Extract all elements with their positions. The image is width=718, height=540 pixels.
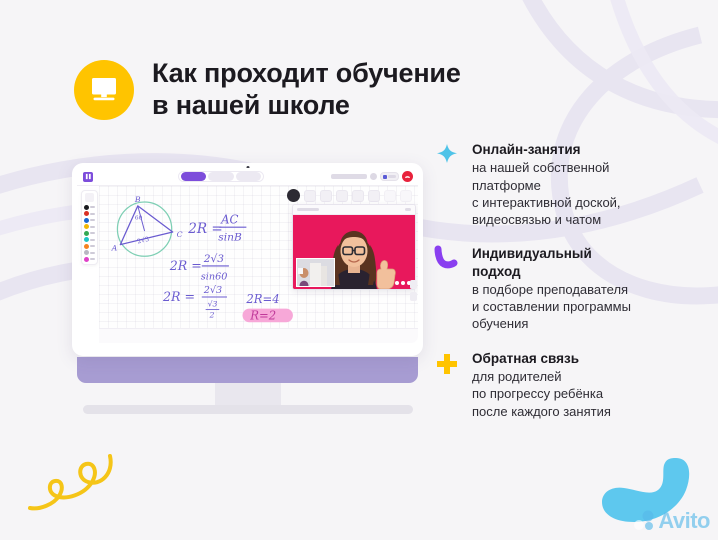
feature-description: в подборе преподавателя и составлении пр… [472, 281, 702, 333]
palette-row[interactable] [84, 224, 96, 229]
palette-row[interactable] [84, 257, 96, 262]
svg-text:2R =: 2R = [169, 258, 202, 273]
video-panel-title [297, 208, 319, 211]
shape-tool-icon[interactable] [320, 190, 332, 202]
feature-item: Обратная связь для родителей по прогресс… [432, 350, 702, 420]
svg-text:2R =: 2R = [162, 289, 195, 304]
avito-logo-icon [633, 510, 655, 532]
app-logo-icon[interactable] [83, 172, 93, 182]
add-tool-icon[interactable] [368, 190, 380, 202]
promo-banner: Как проходит обучение в нашей школе [0, 0, 718, 540]
video-more-options-icon[interactable] [395, 281, 411, 285]
svg-text:C: C [177, 230, 183, 239]
palette-row[interactable] [84, 250, 96, 255]
video-call-panel[interactable] [292, 204, 416, 290]
share-button[interactable] [380, 172, 399, 181]
video-panel-minimize-icon[interactable] [405, 208, 411, 211]
svg-text:B: B [134, 195, 141, 204]
svg-text:A: A [111, 243, 118, 252]
video-feed-main [293, 215, 415, 290]
svg-text:2R=4: 2R=4 [245, 292, 279, 306]
pen-tool-icon[interactable] [287, 189, 300, 202]
monitor-neck [215, 383, 281, 405]
page-header: Как проходит обучение в нашей школе [74, 56, 461, 121]
app-topbar-actions [331, 171, 413, 182]
svg-text:AC: AC [220, 212, 238, 226]
end-call-button[interactable] [402, 171, 413, 182]
feature-description: для родителей по прогрессу ребёнка после… [472, 368, 702, 420]
panel-resize-handle[interactable] [410, 280, 417, 289]
image-tool-icon[interactable] [352, 190, 364, 202]
share-button-label [388, 175, 396, 178]
svg-text:2√3: 2√3 [137, 236, 150, 246]
monitor-screen: B A C 60 2√3 2R = AC sinB [77, 168, 418, 343]
feature-item: Индивидуальный подход в подборе преподав… [432, 245, 702, 332]
avito-watermark: Avito [633, 508, 710, 534]
eraser-tool-icon[interactable] [304, 190, 316, 202]
whiteboard-footer [99, 328, 418, 343]
svg-text:√3: √3 [208, 300, 218, 309]
student-avatar [297, 259, 334, 286]
svg-text:2: 2 [209, 310, 215, 319]
feature-title: Онлайн-занятия [472, 141, 702, 158]
app-tab-group[interactable] [178, 171, 264, 182]
redo-tool-icon[interactable] [400, 190, 412, 202]
lesson-title-label [331, 174, 367, 179]
monitor-icon [89, 77, 119, 103]
undo-tool-icon[interactable] [384, 190, 396, 202]
feature-list: Онлайн-занятия на нашей собственной плат… [432, 141, 702, 437]
palette-row[interactable] [84, 218, 96, 223]
feature-title: Обратная связь [472, 350, 702, 367]
palette-row[interactable] [84, 211, 96, 216]
imac-mockup: B A C 60 2√3 2R = AC sinB [72, 163, 423, 414]
plus-icon [432, 350, 462, 380]
tab-third[interactable] [236, 172, 261, 181]
monitor-chin [77, 357, 418, 383]
color-palette[interactable] [81, 190, 98, 265]
svg-text:sin60: sin60 [201, 272, 228, 283]
palette-row[interactable] [84, 231, 96, 236]
star-icon [432, 141, 462, 171]
feature-title: Индивидуальный подход [472, 245, 702, 280]
svg-text:2√3: 2√3 [203, 285, 223, 296]
app-topbar [77, 168, 418, 186]
text-tool-icon[interactable] [336, 190, 348, 202]
tab-second[interactable] [208, 172, 233, 181]
video-panel-header [293, 205, 415, 215]
phone-hangup-icon [404, 173, 411, 180]
tab-active[interactable] [181, 172, 206, 181]
monitor-stand [83, 405, 413, 414]
palette-row[interactable] [84, 237, 96, 242]
monitor-screen-shell: B A C 60 2√3 2R = AC sinB [72, 163, 423, 356]
whiteboard-toolbar[interactable] [287, 189, 412, 202]
video-feed-pip[interactable] [296, 258, 335, 287]
lock-tool-icon[interactable] [85, 193, 94, 202]
feature-description: на нашей собственной платформе с интерак… [472, 159, 702, 228]
svg-text:R=2: R=2 [249, 308, 276, 322]
svg-text:sinB: sinB [218, 231, 242, 244]
svg-text:60: 60 [135, 215, 143, 221]
palette-row[interactable] [84, 205, 96, 210]
feature-item: Онлайн-занятия на нашей собственной плат… [432, 141, 702, 228]
header-badge [74, 60, 134, 120]
info-icon[interactable] [370, 173, 377, 180]
page-title: Как проходит обучение в нашей школе [152, 58, 461, 121]
avito-watermark-text: Avito [658, 508, 710, 534]
panel-collapse-handle[interactable] [410, 292, 417, 301]
svg-text:2√3: 2√3 [203, 252, 225, 265]
palette-row[interactable] [84, 244, 96, 249]
yellow-curl-decoration [22, 452, 118, 530]
curve-icon [432, 245, 462, 275]
